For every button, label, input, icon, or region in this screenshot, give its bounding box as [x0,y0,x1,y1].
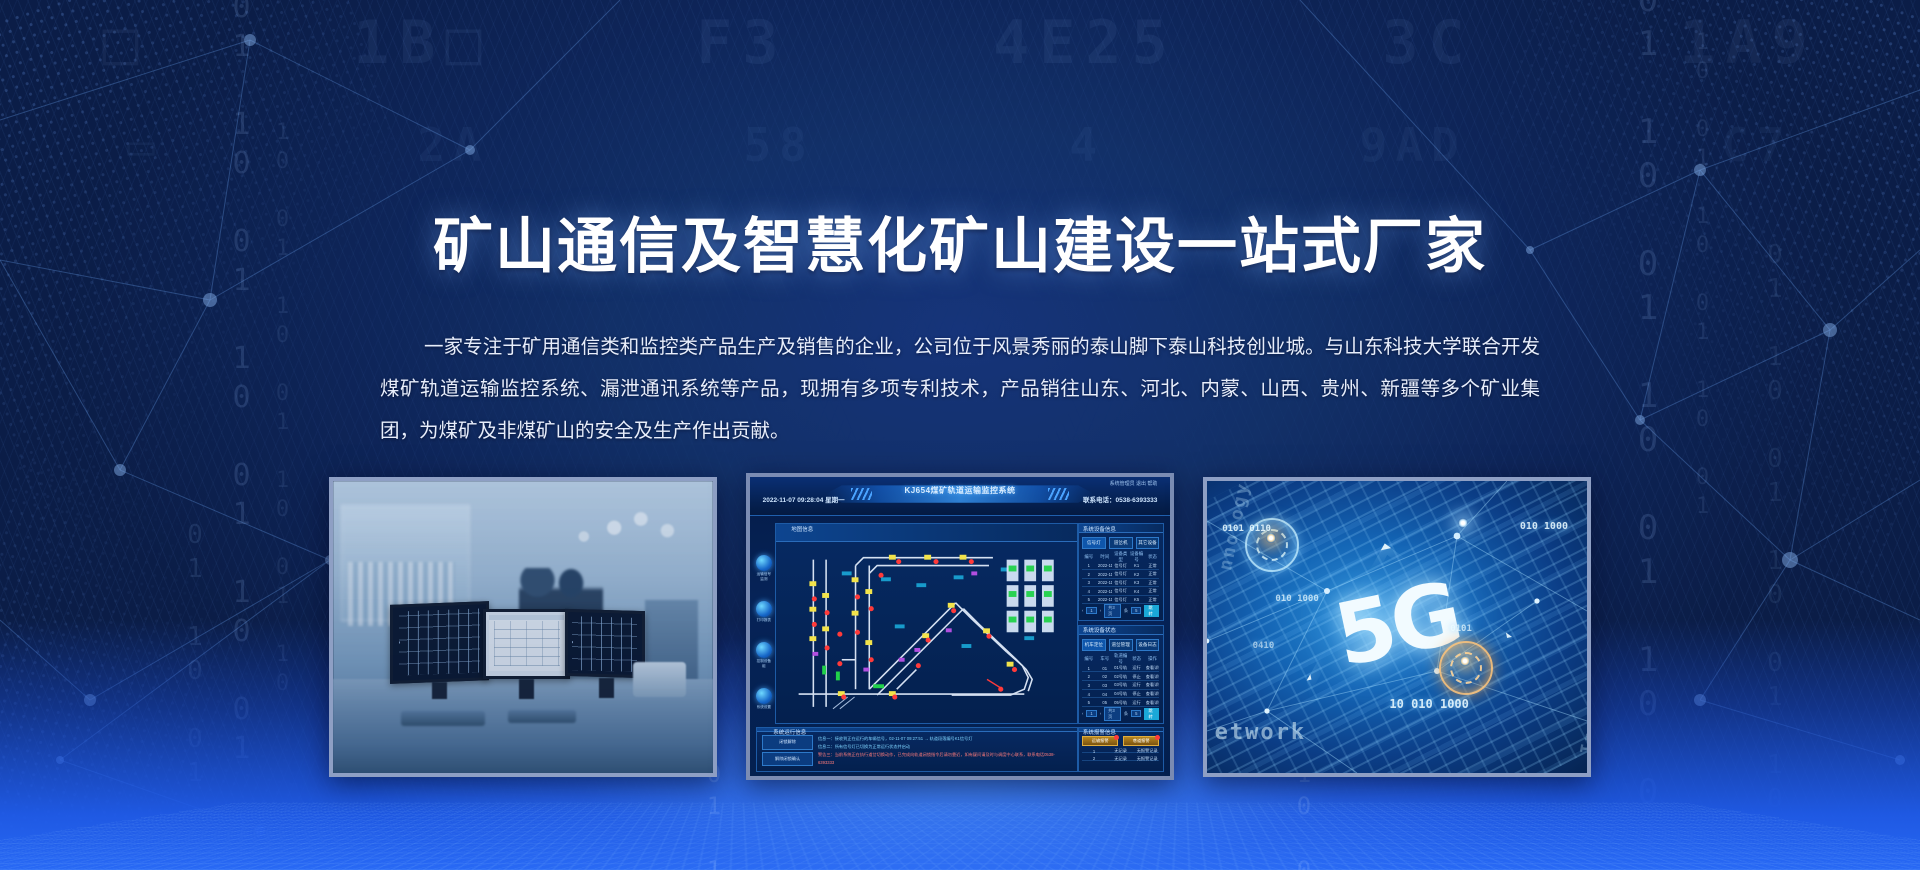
table-row[interactable]: 3 03 03号轨 运行 查看详情 [1082,682,1159,690]
cell: 03 [1098,683,1112,688]
system-log-panel[interactable]: 系统运行信息 闭锁解除 解除闭锁确认 信息一：接收到正在运行的车辆信号，02-1… [756,727,1077,772]
watermark-word: etwork [1215,720,1306,745]
cell: 1 [1082,563,1096,568]
cell: 2 [1082,674,1096,679]
cell: 03号轨 [1114,682,1128,688]
cell: 1 [1082,666,1096,671]
lock-controls[interactable]: 闭锁解除 解除闭锁确认 [762,735,813,766]
hud-ring-icon [1439,641,1493,695]
cell: 正常 [1146,597,1160,603]
table-row[interactable]: 1 01 01号轨 运行 查看详情 [1082,665,1159,673]
cell: 2 [1082,756,1106,761]
total-pages: 共3页 [1104,707,1121,721]
lock-release-button[interactable]: 闭锁解除 [762,735,813,749]
alarm-button-label: 运输报警 [1092,738,1109,744]
cell-action[interactable]: 查看详情 [1146,700,1160,706]
device-status-titlebar: 系统设备状态 [1079,626,1163,635]
alarm-titlebar: 系统报警信息 [1079,728,1163,732]
mine-track-map-panel[interactable]: 地图信息 [775,523,1077,723]
cell: 2022-11-07 09:25:29 [1098,580,1112,585]
image-gallery: KJ654煤矿轨道运输监控系统 2022-11-07 09:28:04 星期一 … [329,473,1591,780]
alarm-row: 1 无记录 无报警记录 [1082,750,1159,753]
tab-device-log[interactable]: 设备日志 [1136,639,1160,652]
tool-label: 打印报表 [757,618,771,622]
column-header: 编号 [1082,554,1096,560]
device-info-panel[interactable]: 系统设备信息 信号灯 道岔机 其它设备 编号 时间 设备类型 设备编号 状态 [1078,523,1164,620]
roadway-alarm-button[interactable]: 巷道报警 [1123,736,1159,745]
tool-button-print-report[interactable]: 打印报表 [755,601,773,623]
go-button[interactable]: 跳转 [1144,708,1159,720]
printer-icon [756,601,772,617]
alarm-row: 2 无记录 无报警记录 [1082,758,1159,761]
column-header: 状态 [1130,656,1144,662]
table-row[interactable]: 1 2022-11-07 09:25:29 信号灯 K1 正常 [1082,562,1159,570]
next-page-icon[interactable]: › [1100,711,1101,716]
column-header: 时间 [1098,554,1112,560]
binary-label: 10 010 1000 [1389,697,1468,711]
go-button[interactable]: 跳转 [1144,605,1159,617]
system-log-titlebar: 系统运行信息 [757,728,1076,732]
cell: 01号轨 [1114,665,1128,671]
table-row[interactable]: 2 2022-11-07 09:25:29 信号灯 K2 正常 [1082,571,1159,579]
cell: 停止 [1130,674,1144,680]
page-size[interactable]: 5 [1131,710,1141,717]
cell: 2022-11-07 09:25:29 [1098,563,1112,568]
cell: 5 [1082,700,1096,705]
current-page[interactable]: 1 [1086,607,1096,614]
total-pages: 共3页 [1104,604,1121,618]
dashboard-user-menu[interactable]: 系统管理员 退出 帮助 [1110,480,1158,487]
cell: 无记录 [1109,756,1133,762]
tool-label: 运输信号监测 [757,572,771,581]
log-line: 信息二：所有信号灯已切换为正常运行状态并启动 [818,743,1067,751]
device-status-tabs[interactable]: 机车定位 道岔管理 设备日志 [1082,639,1159,652]
cell: 2022-11-07 09:25:29 [1098,572,1112,577]
alarm-badge-icon [1155,735,1160,740]
device-info-titlebar: 系统设备信息 [1079,524,1163,533]
cell: 02 [1098,674,1112,679]
device-status-table-header: 编号 车号 轨道编号 状态 操作 [1082,655,1159,664]
current-page[interactable]: 1 [1086,710,1096,717]
gear-icon [756,688,772,704]
column-header: 编号 [1082,656,1096,662]
cell: 信号灯 [1114,597,1128,603]
device-info-table-header: 编号 时间 设备类型 设备编号 状态 [1082,553,1159,562]
device-info-tabs[interactable]: 信号灯 道岔机 其它设备 [1082,537,1159,549]
banner-content: 矿山通信及智慧化矿山建设一站式厂家 一家专注于矿用通信类和监控类产品生产及销售的… [0,0,1920,870]
control-room-photo [333,481,713,773]
cell: 05 [1098,700,1112,705]
cell-action[interactable]: 查看详情 [1146,674,1160,680]
company-description: 一家专注于矿用通信类和监控类产品生产及销售的企业，公司位于风景秀丽的泰山脚下泰山… [380,326,1540,452]
tab-switch-management[interactable]: 道岔管理 [1109,639,1133,652]
cell: 2 [1082,572,1096,577]
tool-label: 系统设置 [757,705,771,709]
cell-action[interactable]: 查看详情 [1146,682,1160,688]
cell: 运行 [1130,682,1144,688]
tab-locomotive-position[interactable]: 机车定位 [1082,639,1106,652]
track-network-diagram [779,542,1073,728]
rail-transport-monitoring-dashboard: KJ654煤矿轨道运输监控系统 2022-11-07 09:28:04 星期一 … [750,477,1170,776]
alarm-panel[interactable]: 系统报警信息 运输报警 巷道报警 1 无记录 [1078,727,1164,772]
transport-alarm-button[interactable]: 运输报警 [1082,736,1118,745]
cell: K1 [1130,563,1144,568]
cell: 无记录 [1109,748,1133,754]
alarm-buttons[interactable]: 运输报警 巷道报警 [1082,736,1159,745]
cell: 无报警记录 [1135,756,1159,762]
column-header: 设备类型 [1114,551,1128,563]
cell: 正常 [1146,588,1160,594]
cell: 01 [1098,666,1112,671]
cell: 信号灯 [1114,571,1128,577]
column-header: 设备编号 [1130,551,1144,563]
dashboard-datetime: 2022-11-07 09:28:04 星期一 [763,494,845,504]
page-size[interactable]: 5 [1131,607,1141,614]
binary-label: 0101 [1450,624,1472,634]
blue-color-grade [333,481,713,773]
cell: 信号灯 [1114,588,1128,594]
dashboard-left-toolbar: 运输信号监测 打印报表 控制设备组 系统设置 [755,555,773,710]
light-flare [1266,533,1276,543]
cell: 2022-11-07 09:25:29 [1098,589,1112,594]
table-row[interactable]: 4 2022-11-07 09:25:29 信号灯 K4 正常 [1082,588,1159,596]
system-log-lines: 信息一：接收到正在运行的车辆信号，02-11-07 09:27:51 → 轨道段… [818,735,1067,768]
cell-action[interactable]: 查看详情 [1146,691,1160,697]
cell: 04 [1098,692,1112,697]
log-line: 信息一：接收到正在运行的车辆信号，02-11-07 09:27:51 → 轨道段… [818,735,1067,743]
light-flare [1460,656,1470,666]
table-row[interactable]: 3 2022-11-07 09:25:29 信号灯 K3 正常 [1082,580,1159,588]
column-header: 轨道编号 [1114,653,1128,665]
cell: 运行 [1130,700,1144,706]
lock-release-confirm-button[interactable]: 解除闭锁确认 [762,752,813,766]
cell: 2022-11-07 09:25:29 [1098,597,1112,602]
cell: K2 [1130,572,1144,577]
table-row[interactable]: 4 04 04号轨 停止 查看详情 [1082,691,1159,699]
tab-signal-light[interactable]: 信号灯 [1082,537,1106,549]
prev-page-icon[interactable]: ‹ [1082,608,1083,613]
binary-label: 0410 [1253,641,1275,651]
cell: 4 [1082,692,1096,697]
device-status-panel[interactable]: 系统设备状态 机车定位 道岔管理 设备日志 编号 车号 轨道编号 状态 操作 [1078,625,1164,724]
cell: 正常 [1146,563,1160,569]
control-icon [756,642,772,658]
dashboard-telephone: 联系电话：0538-6393333 [1083,494,1157,504]
tab-other-device[interactable]: 其它设备 [1136,537,1160,549]
5g-technology-photo: 5G 0101 0110 010 1000 010 1000 0410 0101… [1207,481,1587,773]
page-size-label: 条 [1124,711,1128,717]
column-header: 状态 [1146,554,1160,560]
tool-button-device-control[interactable]: 控制设备组 [755,642,773,669]
device-info-title: 系统设备信息 [1083,525,1116,533]
device-info-pager[interactable]: ‹ 1 › 共3页 条 5 跳转 [1082,606,1159,616]
device-status-title: 系统设备状态 [1083,626,1116,634]
signal-monitor-icon [756,555,772,571]
cell: 4 [1082,589,1096,594]
page-size-label: 条 [1124,608,1128,614]
table-row[interactable]: 2 02 02号轨 停止 查看详情 [1082,673,1159,681]
column-header: 车号 [1098,656,1112,662]
cell: 正常 [1146,580,1160,586]
tool-label: 控制设备组 [757,659,771,668]
page-title: 矿山通信及智慧化矿山建设一站式厂家 [0,198,1920,285]
cell: 无报警记录 [1135,748,1159,754]
cell: 05号轨 [1114,700,1128,706]
map-panel-titlebar: 地图信息 [776,524,1076,542]
cell: 04号轨 [1114,691,1128,697]
prev-page-icon[interactable]: ‹ [1082,711,1083,716]
cell: 02号轨 [1114,674,1128,680]
cell: K3 [1130,580,1144,585]
cell: 信号灯 [1114,580,1128,586]
alarm-button-label: 巷道报警 [1133,738,1150,744]
tool-button-signal-monitor[interactable]: 运输信号监测 [755,555,773,582]
next-page-icon[interactable]: › [1100,608,1101,613]
log-line-warning: 警告三：当前系统正在执行道岔切换动作，已完成向轨道闭锁指令后请勿靠近，如有疑问请… [818,751,1067,767]
cell: 运行 [1130,665,1144,671]
gallery-item-5g-technology[interactable]: 5G 0101 0110 010 1000 010 1000 0410 0101… [1203,477,1591,777]
tab-switch-machine[interactable]: 道岔机 [1109,537,1133,549]
cell: 3 [1082,683,1096,688]
cell: 3 [1082,580,1096,585]
cell: 5 [1082,597,1096,602]
cell: 1 [1082,749,1106,754]
cell: 信号灯 [1114,563,1128,569]
cell: 停止 [1130,691,1144,697]
alarm-title: 系统报警信息 [1083,728,1116,736]
binary-label: 010 1000 [1275,594,1318,604]
alarm-badge-icon [1114,735,1119,740]
gallery-item-control-room[interactable] [329,477,717,777]
binary-label: 010 1000 [1520,521,1568,532]
cell-action[interactable]: 查看详情 [1146,665,1160,671]
column-header: 操作 [1146,656,1160,662]
gallery-item-monitoring-dashboard[interactable]: KJ654煤矿轨道运输监控系统 2022-11-07 09:28:04 星期一 … [746,473,1174,780]
cell: K4 [1130,589,1144,594]
map-panel-title: 地图信息 [791,525,813,533]
device-status-pager[interactable]: ‹ 1 › 共3页 条 5 跳转 [1082,709,1159,719]
dashboard-header: KJ654煤矿轨道运输监控系统 2022-11-07 09:28:04 星期一 … [750,477,1170,516]
cell: 正常 [1146,571,1160,577]
cell: K5 [1130,597,1144,602]
tool-button-system-settings[interactable]: 系统设置 [755,688,773,710]
